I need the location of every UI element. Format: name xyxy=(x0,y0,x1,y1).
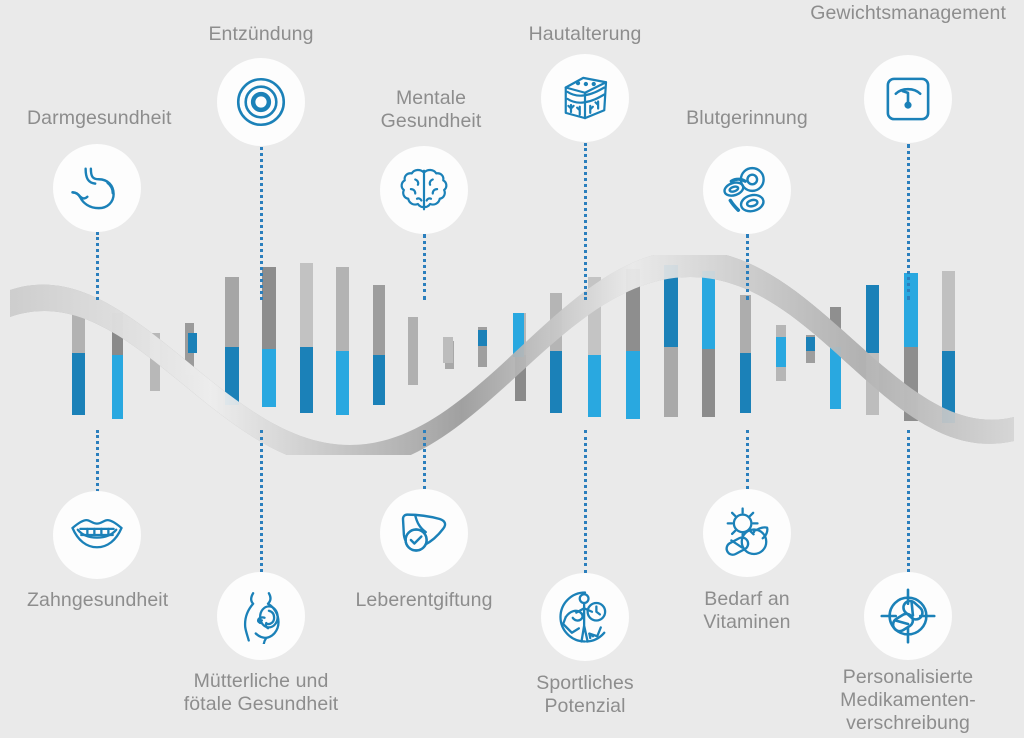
node-label-bedarf-an-vitaminen: Bedarf an Vitaminen xyxy=(703,588,790,634)
connector-line-hautalterung xyxy=(584,143,587,300)
liver-icon xyxy=(396,505,452,561)
node-hautalterung[interactable] xyxy=(541,54,629,142)
athletics-icon xyxy=(557,589,613,645)
teeth-mouth-icon xyxy=(69,507,125,563)
node-label-sportliches-potenzial: Sportliches Potenzial xyxy=(536,672,634,718)
stomach-icon xyxy=(69,160,125,216)
connector-line-mentale-gesundheit xyxy=(423,234,426,300)
helix-front-strand xyxy=(10,255,1014,455)
node-label-muetterliche-foetale-gesundheit: Mütterliche und fötale Gesundheit xyxy=(184,670,339,716)
connector-line-sportliches-potenzial xyxy=(584,430,587,573)
node-label-personalisierte-medikamentenverschreibung: Personalisierte Medikamenten- verschreib… xyxy=(840,666,976,735)
connector-line-muetterliche-foetale-gesundheit xyxy=(260,430,263,572)
dna-helix-graphic xyxy=(0,255,1024,455)
dna-helix-svg xyxy=(0,255,1024,455)
node-label-darmgesundheit: Darmgesundheit xyxy=(27,107,171,130)
skin-layers-icon xyxy=(557,70,613,126)
node-label-zahngesundheit: Zahngesundheit xyxy=(27,589,168,612)
node-zahngesundheit[interactable] xyxy=(53,491,141,579)
node-darmgesundheit[interactable] xyxy=(53,144,141,232)
node-label-hautalterung: Hautalterung xyxy=(529,23,642,46)
node-label-leberentgiftung: Leberentgiftung xyxy=(355,589,492,612)
connector-line-leberentgiftung xyxy=(423,430,426,489)
inflammation-target-icon xyxy=(233,74,289,130)
node-gewichtsmanagement[interactable] xyxy=(864,55,952,143)
node-leberentgiftung[interactable] xyxy=(380,489,468,577)
vitamins-icon xyxy=(719,505,775,561)
node-entzuendung[interactable] xyxy=(217,58,305,146)
connector-line-personalisierte-medikamentenverschreibung xyxy=(907,430,910,572)
node-label-entzuendung: Entzündung xyxy=(208,23,313,46)
weight-scale-icon xyxy=(880,71,936,127)
blood-cells-icon xyxy=(719,162,775,218)
pregnancy-icon xyxy=(233,588,289,644)
connector-line-bedarf-an-vitaminen xyxy=(746,430,749,489)
node-personalisierte-medikamentenverschreibung[interactable] xyxy=(864,572,952,660)
brain-icon xyxy=(396,162,452,218)
node-sportliches-potenzial[interactable] xyxy=(541,573,629,661)
infographic-canvas: Darmgesundheit Entzündung Mentale Gesund… xyxy=(0,0,1024,738)
node-muetterliche-foetale-gesundheit[interactable] xyxy=(217,572,305,660)
node-bedarf-an-vitaminen[interactable] xyxy=(703,489,791,577)
connector-line-zahngesundheit xyxy=(96,430,99,492)
node-mentale-gesundheit[interactable] xyxy=(380,146,468,234)
connector-line-blutgerinnung xyxy=(746,234,749,300)
pill-target-icon xyxy=(880,588,936,644)
node-blutgerinnung[interactable] xyxy=(703,146,791,234)
connector-line-darmgesundheit xyxy=(96,232,99,300)
node-label-mentale-gesundheit: Mentale Gesundheit xyxy=(381,87,482,133)
node-label-gewichtsmanagement: Gewichtsmanagement xyxy=(810,2,1006,25)
connector-line-entzuendung xyxy=(260,147,263,300)
connector-line-gewichtsmanagement xyxy=(907,144,910,300)
node-label-blutgerinnung: Blutgerinnung xyxy=(686,107,808,130)
